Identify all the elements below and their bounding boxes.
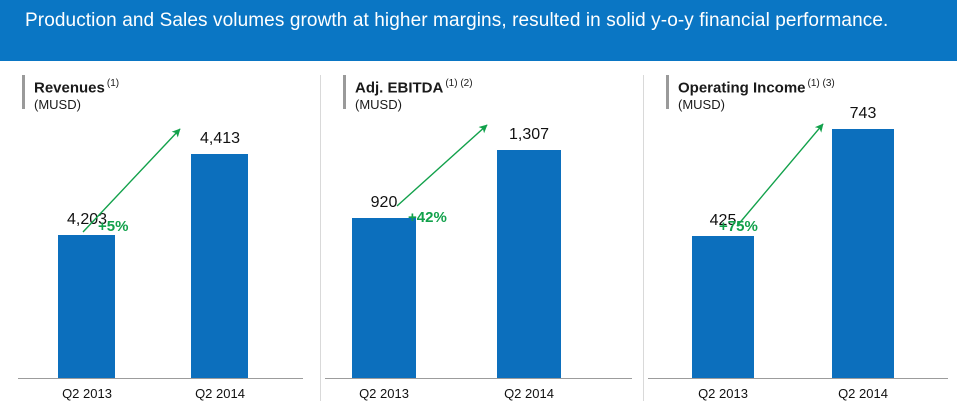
plot-area-operating-income: 425 743 Q2 2013 Q2 2014 +75%: [644, 61, 957, 414]
page-title: Production and Sales volumes growth at h…: [25, 8, 925, 33]
growth-label-revenues: +5%: [98, 218, 128, 235]
chart-panel-operating-income: Operating Income(1) (3) (MUSD) 425 743 Q…: [644, 61, 957, 414]
chart-panel-revenues: Revenues(1) (MUSD) 4,203 4,413 Q2 2013 Q…: [0, 61, 320, 414]
plot-area-revenues: 4,203 4,413 Q2 2013 Q2 2014 +5%: [0, 61, 320, 414]
charts-container: Revenues(1) (MUSD) 4,203 4,413 Q2 2013 Q…: [0, 61, 957, 414]
growth-arrow-icon: [0, 61, 320, 414]
growth-arrow-icon: [321, 61, 643, 414]
growth-label-operating-income: +75%: [719, 218, 758, 235]
growth-label-adj-ebitda: +42%: [408, 209, 447, 226]
header-banner: Production and Sales volumes growth at h…: [0, 0, 957, 61]
growth-arrow-icon: [644, 61, 957, 414]
plot-area-adj-ebitda: 920 1,307 Q2 2013 Q2 2014 +42%: [321, 61, 643, 414]
chart-panel-adj-ebitda: Adj. EBITDA(1) (2) (MUSD) 920 1,307 Q2 2…: [321, 61, 643, 414]
